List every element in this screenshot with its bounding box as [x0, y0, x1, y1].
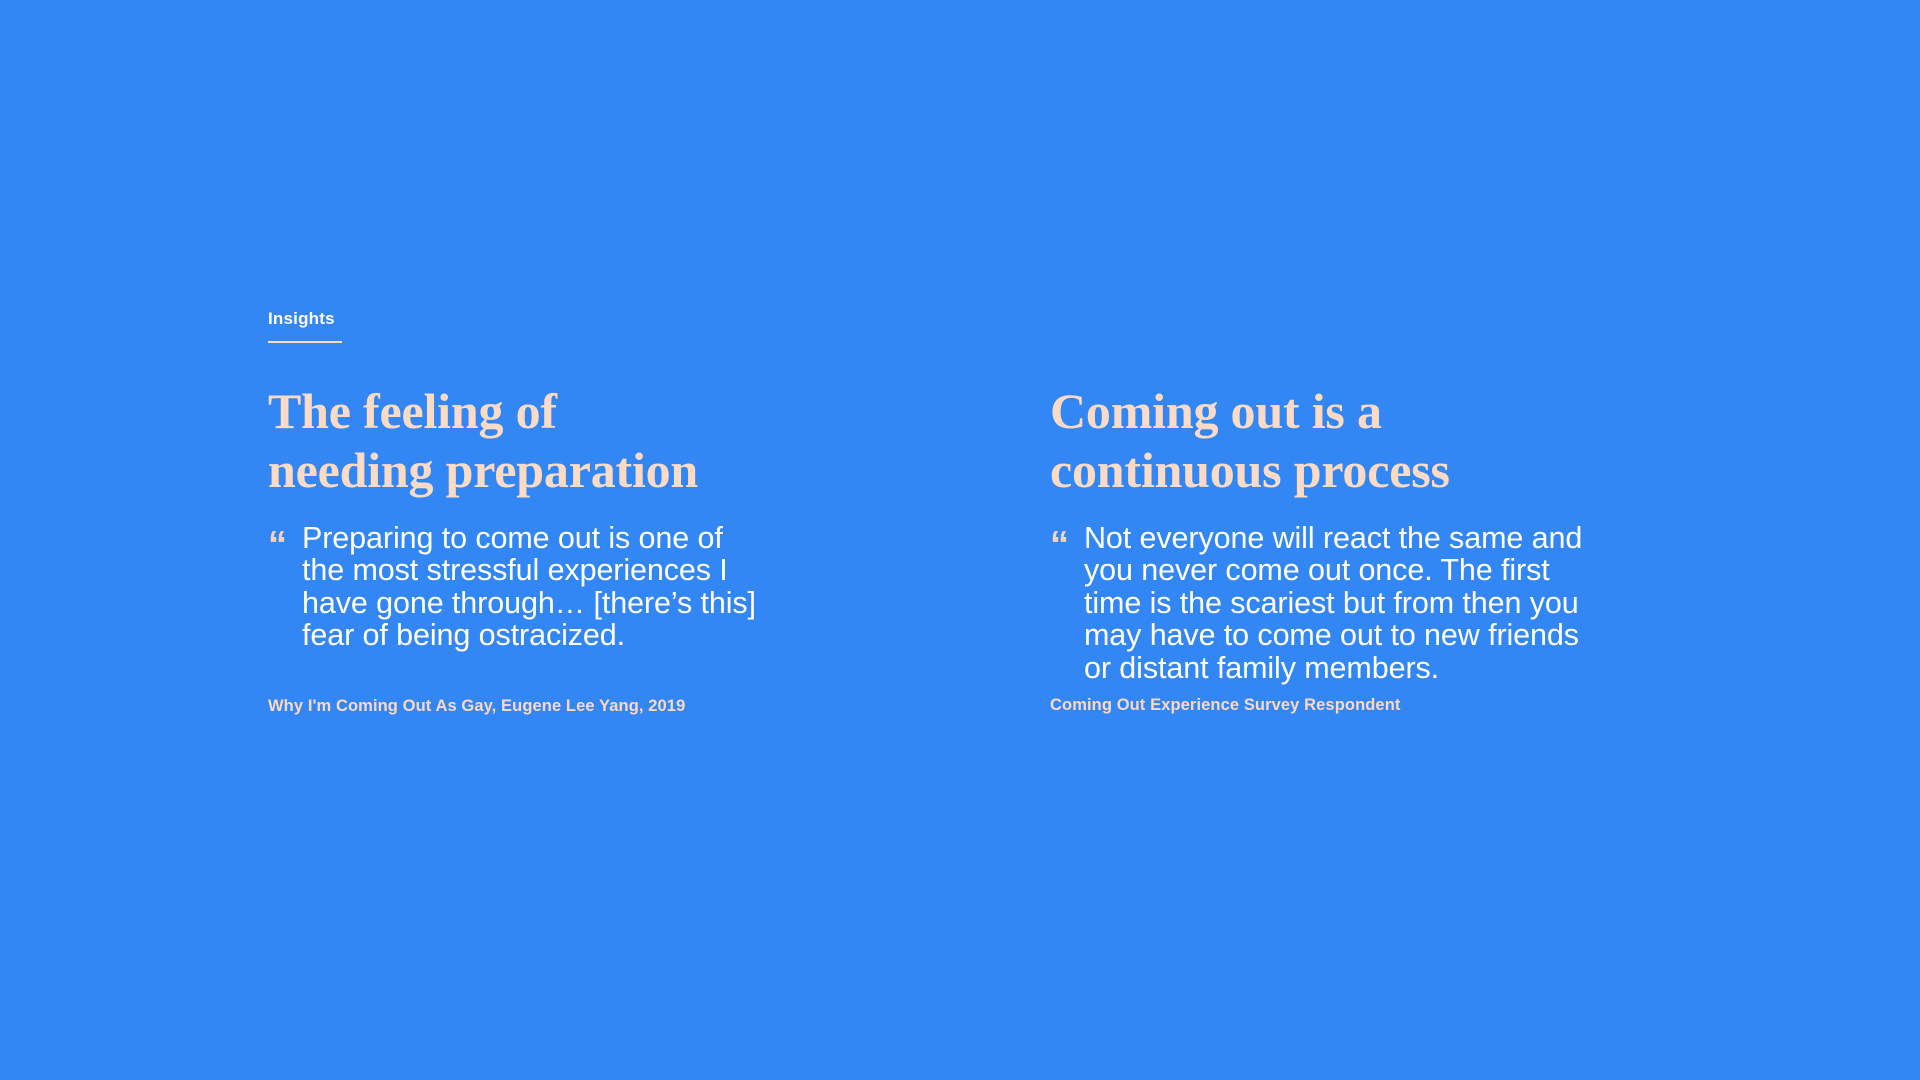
insight-card-right: Coming out is a continuous process “ Not… [1050, 382, 1710, 716]
quotation-mark-icon: “ [268, 526, 286, 564]
insight-heading: Coming out is a continuous process [1050, 382, 1710, 499]
insights-columns: The feeling of needing preparation “ Pre… [0, 0, 1920, 1080]
slide-canvas: Insights The feeling of needing preparat… [0, 0, 1920, 1080]
quote-text: Not everyone will react the same and you… [1084, 522, 1710, 684]
quote-attribution: Coming Out Experience Survey Respondent [1050, 696, 1710, 716]
quote-text: Preparing to come out is one of the most… [302, 522, 868, 652]
quote-block: “ Not everyone will react the same and y… [1050, 522, 1710, 684]
quotation-mark-icon: “ [1050, 526, 1068, 564]
insight-heading: The feeling of needing preparation [268, 382, 868, 499]
quote-block: “ Preparing to come out is one of the mo… [268, 522, 868, 652]
quote-attribution: Why I'm Coming Out As Gay, Eugene Lee Ya… [268, 697, 868, 717]
insight-card-left: The feeling of needing preparation “ Pre… [268, 382, 868, 717]
